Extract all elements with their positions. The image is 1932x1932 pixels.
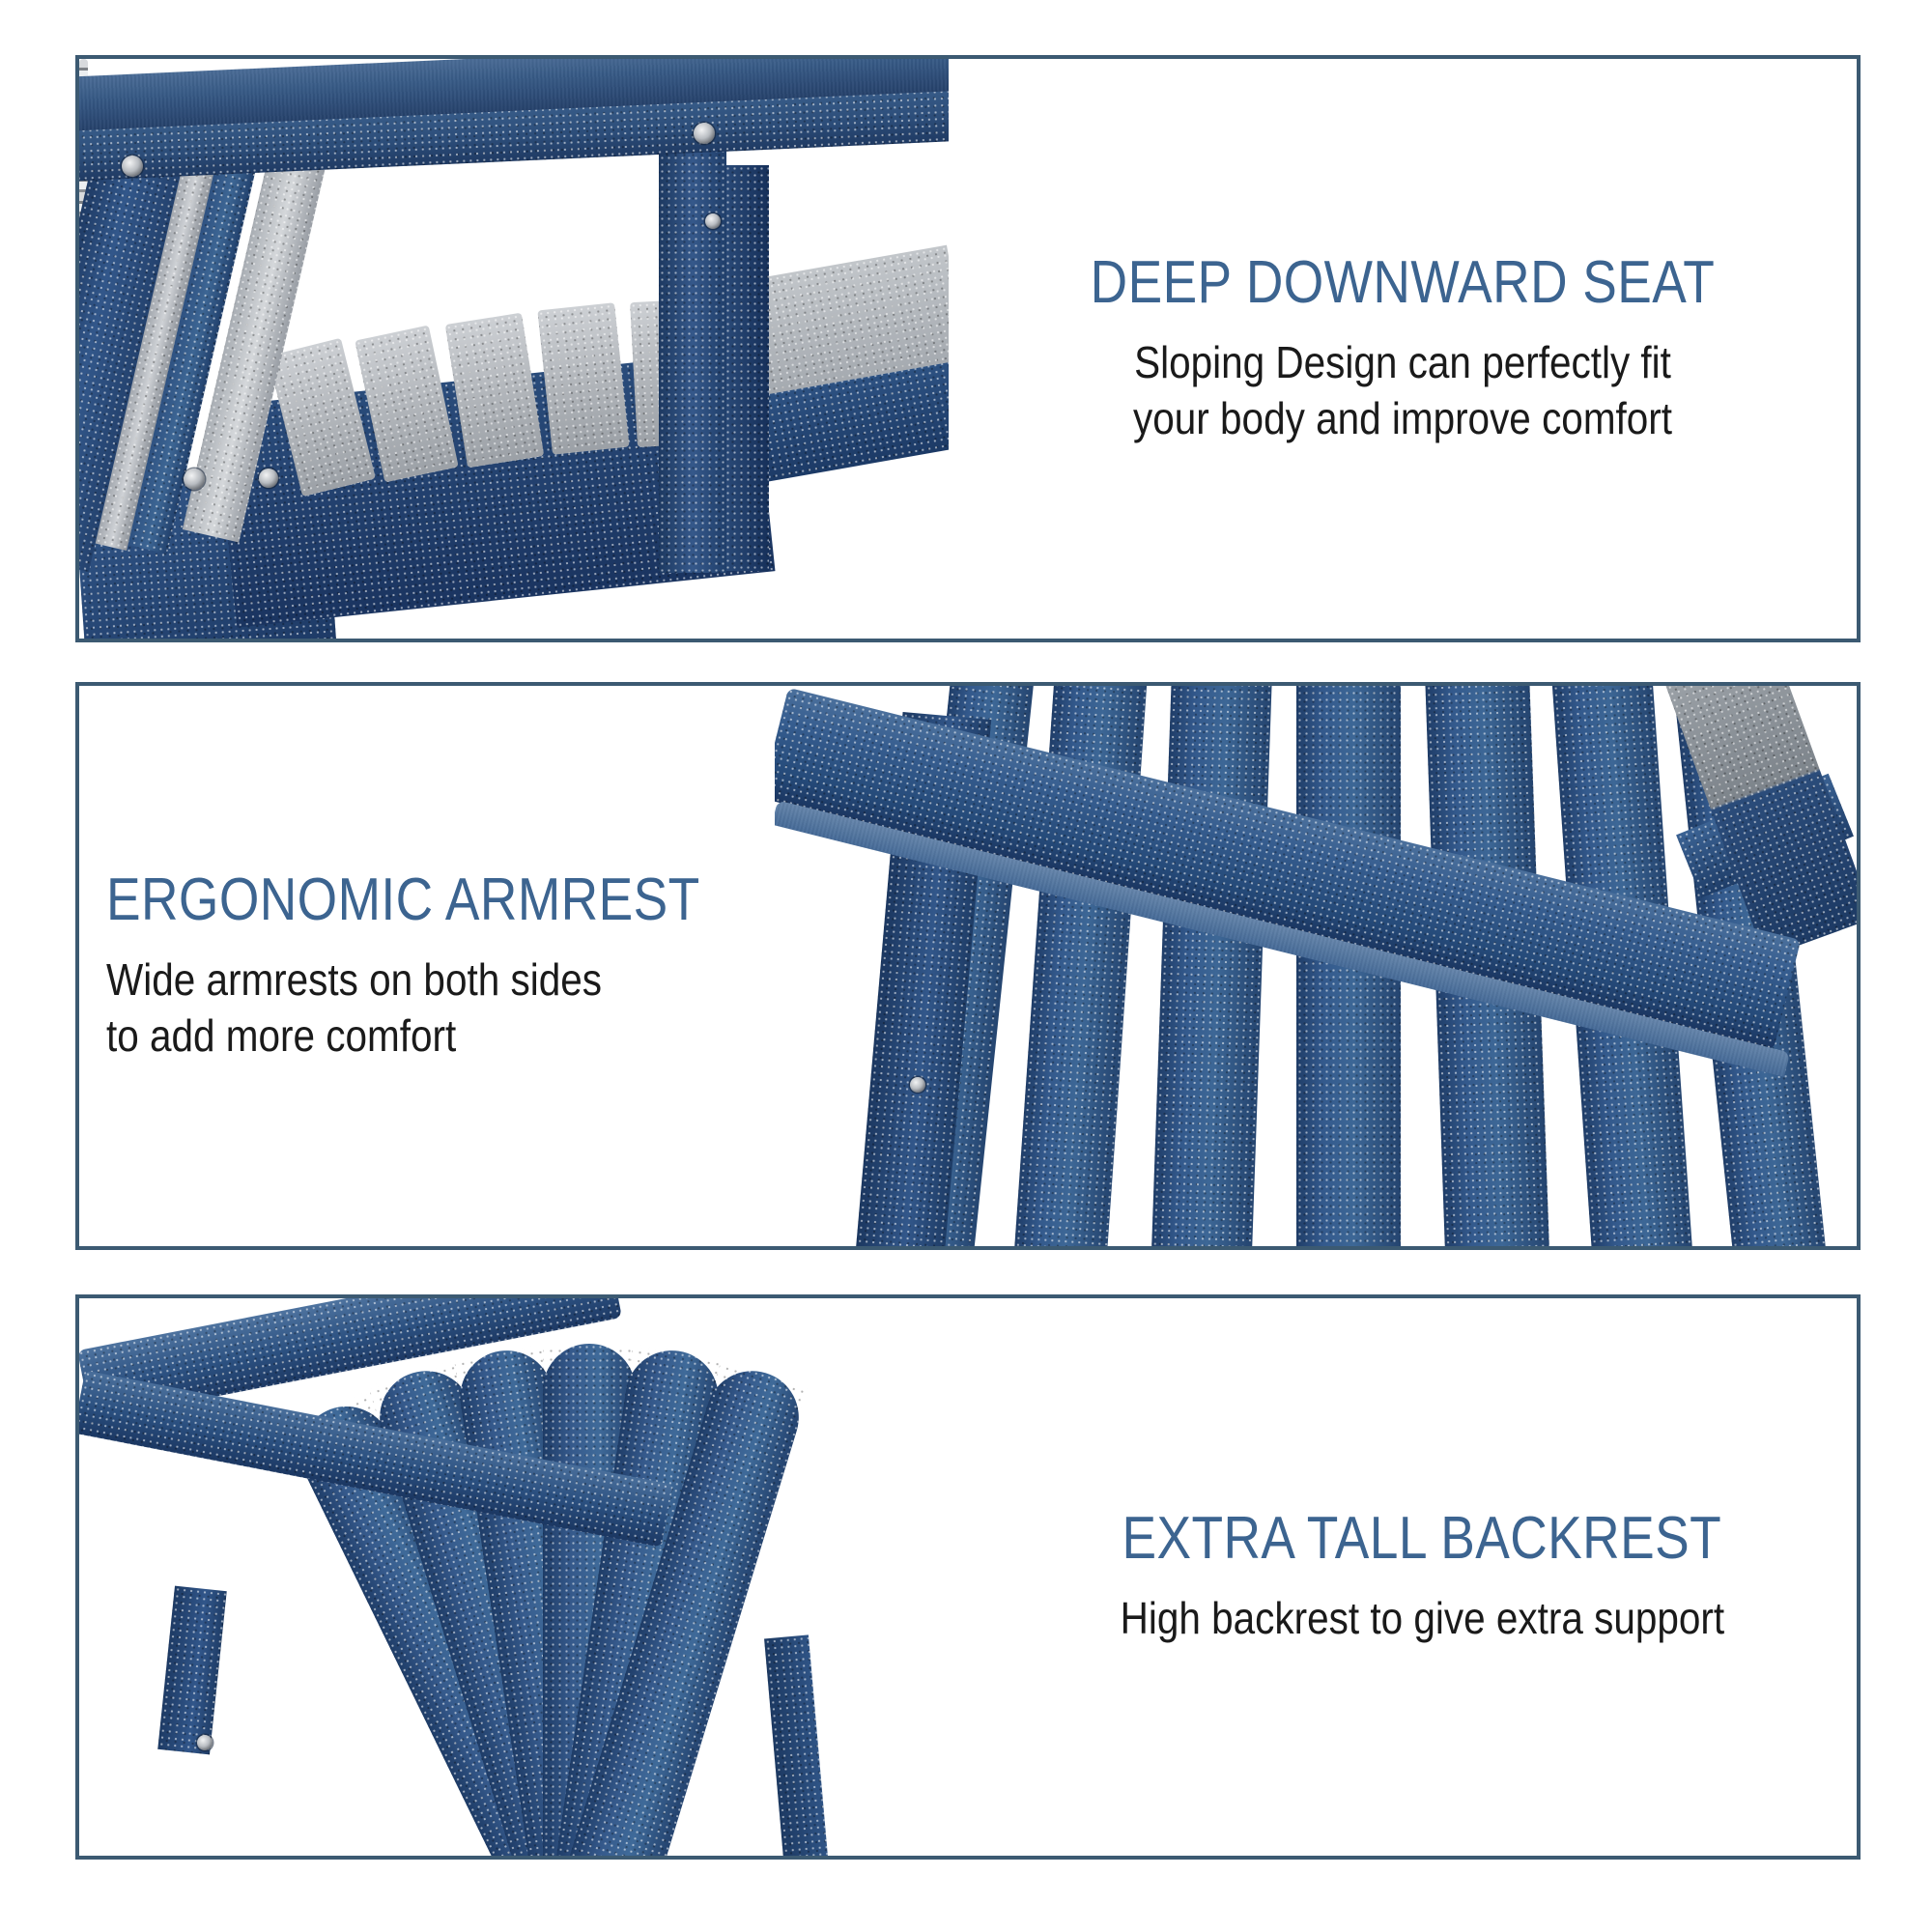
panel-1-body-line-1: Sloping Design can perfectly fit [1133, 335, 1672, 391]
infographic-board: DEEP DOWNWARD SEAT Sloping Design can pe… [0, 0, 1932, 1932]
product-photo-backrest [79, 1298, 1007, 1856]
panel-3-heading: EXTRA TALL BACKREST [1122, 1507, 1722, 1570]
feature-text-deep-downward-seat: DEEP DOWNWARD SEAT Sloping Design can pe… [949, 59, 1857, 639]
frame-screw [184, 469, 205, 490]
panel-1-heading: DEEP DOWNWARD SEAT [1091, 251, 1716, 314]
panel-2-body: Wide armrests on both sides to add more … [106, 952, 602, 1065]
panel-1-body-line-2: your body and improve comfort [1133, 391, 1672, 447]
armrest-screw [910, 1077, 925, 1093]
frame-screw [259, 469, 278, 488]
panel-2-body-line-1: Wide armrests on both sides [106, 952, 602, 1009]
panel-2-body-line-2: to add more comfort [106, 1009, 602, 1065]
feature-panel-extra-tall-backrest: EXTRA TALL BACKREST High backrest to giv… [75, 1294, 1861, 1860]
armrest-screw [197, 1735, 213, 1750]
panel-2-heading: ERGONOMIC ARMREST [106, 868, 700, 931]
feature-text-extra-tall-backrest: EXTRA TALL BACKREST High backrest to giv… [987, 1298, 1857, 1856]
chain-anchor-screw [705, 213, 721, 229]
frame-screw [122, 156, 143, 177]
feature-panel-deep-downward-seat: DEEP DOWNWARD SEAT Sloping Design can pe… [75, 55, 1861, 642]
product-photo-armrest [775, 686, 1857, 1246]
feature-panel-ergonomic-armrest: ERGONOMIC ARMREST Wide armrests on both … [75, 682, 1861, 1250]
panel-3-body-line-1: High backrest to give extra support [1120, 1591, 1724, 1647]
frame-screw [694, 123, 715, 144]
product-photo-seat [79, 59, 949, 639]
panel-1-body: Sloping Design can perfectly fit your bo… [1133, 335, 1672, 447]
panel-3-body: High backrest to give extra support [1120, 1591, 1724, 1647]
